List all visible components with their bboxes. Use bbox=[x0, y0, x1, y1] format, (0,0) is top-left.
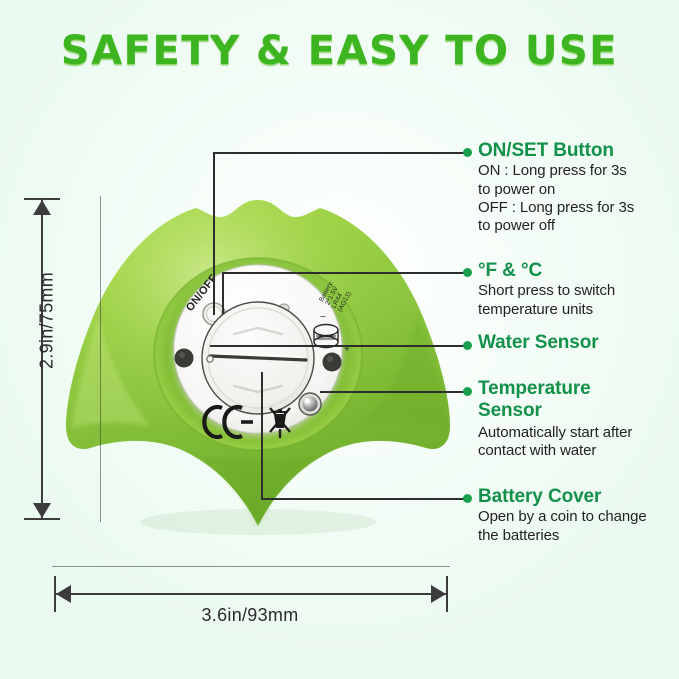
callout-dot-water-sensor bbox=[463, 341, 472, 350]
callout-line: OFF : Long press for 3s bbox=[478, 199, 678, 217]
callout-on-set-button: ON/SET Button ON : Long press for 3s to … bbox=[478, 140, 678, 235]
callout-heading-temperature-sensor-line1: Temperature bbox=[478, 378, 678, 399]
dim-horizontal-right-arrow bbox=[431, 585, 446, 603]
callout-line: contact with water bbox=[478, 442, 678, 460]
callout-water-sensor: Water Sensor bbox=[478, 332, 678, 354]
callout-line: Automatically start after bbox=[478, 424, 678, 442]
leader-water-sensor-horizontal bbox=[210, 345, 466, 347]
callout-dot-battery-cover bbox=[463, 494, 472, 503]
callout-temperature-sensor: Temperature Sensor Automatically start a… bbox=[478, 378, 678, 460]
dim-width-label: 3.6in/93mm bbox=[120, 605, 380, 626]
svg-text:−: − bbox=[320, 312, 326, 323]
callout-dot-temperature-sensor bbox=[463, 387, 472, 396]
callout-line: Short press to switch bbox=[478, 282, 678, 300]
callout-line: to power on bbox=[478, 181, 678, 199]
callout-battery-cover: Battery Cover Open by a coin to change t… bbox=[478, 486, 678, 545]
callout-heading-temperature-sensor-line2: Sensor bbox=[478, 400, 678, 421]
leader-on-set-button-vertical bbox=[213, 152, 215, 315]
callout-line: the batteries bbox=[478, 527, 678, 545]
page-title: SAFETY & EASY TO USE bbox=[0, 28, 679, 74]
dim-guide-rail-left bbox=[100, 196, 101, 522]
dim-guide-rail-bottom bbox=[52, 566, 450, 567]
leader-on-set-button-horizontal bbox=[213, 152, 466, 154]
leader-fahrenheit-celsius-horizontal bbox=[222, 272, 466, 274]
callout-heading-battery-cover: Battery Cover bbox=[478, 486, 678, 507]
callout-dot-on-set-button bbox=[463, 148, 472, 157]
callout-fahrenheit-celsius: °F & °C Short press to switch temperatur… bbox=[478, 260, 678, 319]
leader-temperature-sensor-horizontal bbox=[320, 391, 466, 393]
leader-battery-cover-vertical bbox=[261, 372, 263, 499]
dim-horizontal-right-cap bbox=[446, 576, 448, 612]
callout-heading-on-set-button: ON/SET Button bbox=[478, 140, 678, 161]
leader-battery-cover-horizontal bbox=[261, 498, 466, 500]
callout-heading-fahrenheit-celsius: °F & °C bbox=[478, 260, 678, 281]
callout-line: to power off bbox=[478, 217, 678, 235]
callout-line: ON : Long press for 3s bbox=[478, 162, 678, 180]
callout-line: Open by a coin to change bbox=[478, 508, 678, 526]
device-illustration: ON/OFF °C/°F Battery: 2*1.5V LR44 (AG13) bbox=[58, 186, 458, 546]
callout-heading-water-sensor: Water Sensor bbox=[478, 332, 678, 353]
leader-fahrenheit-celsius-vertical bbox=[222, 272, 224, 314]
dim-vertical-bottom-arrow bbox=[33, 503, 51, 518]
infographic-page: SAFETY & EASY TO USE bbox=[0, 0, 679, 679]
dim-vertical-bottom-cap bbox=[24, 518, 60, 520]
dim-horizontal-line bbox=[56, 593, 446, 595]
callout-dot-fahrenheit-celsius bbox=[463, 268, 472, 277]
callout-line: temperature units bbox=[478, 301, 678, 319]
dim-height-label: 2.9in/75mm bbox=[37, 241, 58, 401]
